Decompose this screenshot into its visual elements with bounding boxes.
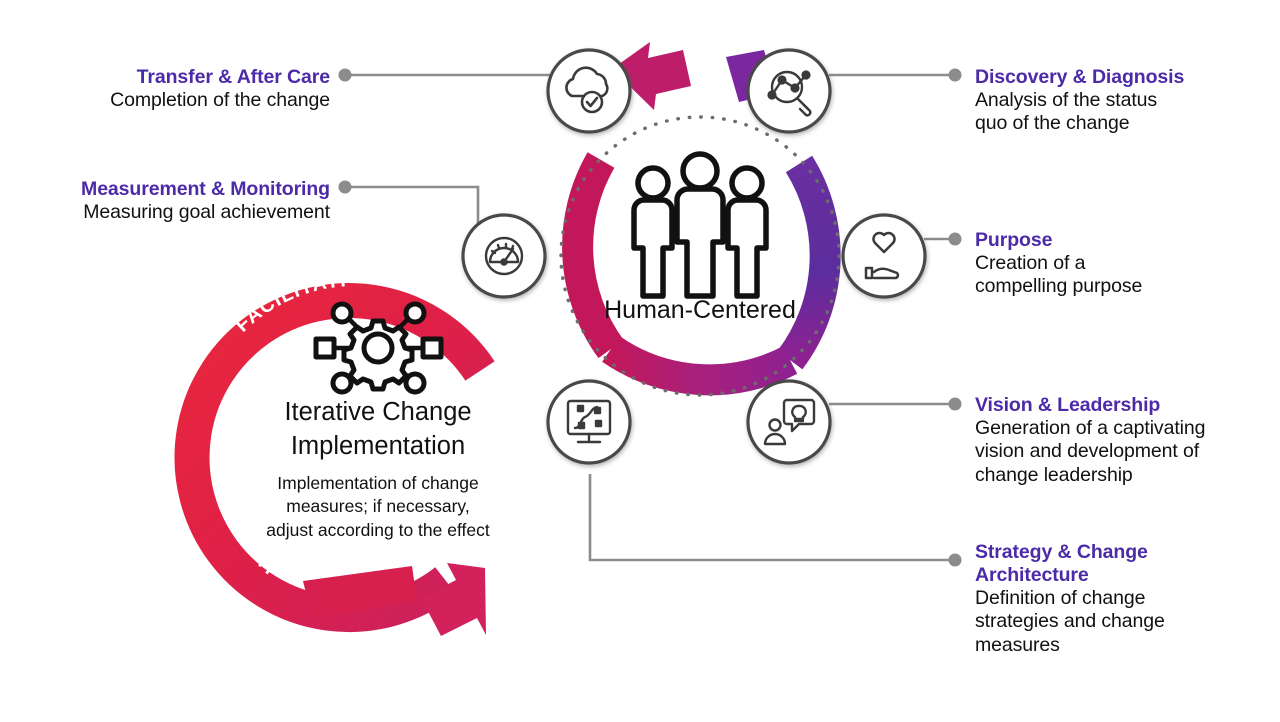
stage-desc-strategy-line3: measures	[975, 634, 1275, 657]
stage-desc-purpose-line1: Creation of a	[975, 252, 1275, 275]
stage-label-strategy-change-architecture[interactable]: Strategy & Change Architecture Definitio…	[975, 541, 1275, 657]
stage-desc-vision-leadership-line3: change leadership	[975, 464, 1275, 487]
iterative-desc-line1: Implementation of change	[228, 472, 528, 495]
stage-icon-transfer-after-care[interactable]	[548, 50, 630, 132]
stage-desc-measurement-monitoring-line1: Measuring goal achievement	[0, 201, 330, 224]
iterative-desc-line3: adjust according to the effect	[228, 519, 528, 542]
stage-title-vision-leadership: Vision & Leadership	[975, 394, 1275, 417]
connector-dot-transfer	[339, 69, 352, 82]
stage-desc-strategy-line1: Definition of change	[975, 587, 1275, 610]
connector-dot-vision	[949, 398, 962, 411]
stage-title-transfer-after-care: Transfer & After Care	[0, 66, 330, 89]
connector-dot-discovery	[949, 69, 962, 82]
ring-word-facilitation: FACILITATION	[0, 0, 348, 337]
stage-desc-discovery-diagnosis-line2: quo of the change	[975, 112, 1275, 135]
stage-icon-vision-leadership[interactable]	[748, 381, 830, 463]
stage-desc-vision-leadership-line1: Generation of a captivating	[975, 417, 1275, 440]
iterative-title-line1: Iterative Change	[213, 396, 543, 430]
connector-dot-measurement	[339, 181, 352, 194]
stage-label-transfer-after-care[interactable]: Transfer & After Care Completion of the …	[0, 66, 330, 112]
stage-desc-strategy-line2: strategies and change	[975, 610, 1275, 633]
stage-title-strategy-change-architecture-line2: Architecture	[975, 564, 1275, 587]
iterative-desc-line2: measures; if necessary,	[228, 495, 528, 518]
stage-desc-purpose-line2: compelling purpose	[975, 275, 1275, 298]
stage-icon-purpose[interactable]	[843, 215, 925, 297]
stage-desc-transfer-after-care-line1: Completion of the change	[0, 89, 330, 112]
stage-icon-strategy-change-architecture[interactable]	[548, 381, 630, 463]
stage-label-discovery-diagnosis[interactable]: Discovery & Diagnosis Analysis of the st…	[975, 66, 1275, 136]
ring-segment-magenta	[611, 349, 790, 380]
diagram-canvas: FACILITATION EXECUTION ADOPTION	[0, 0, 1280, 722]
stage-icon-measurement-monitoring[interactable]	[463, 215, 545, 297]
stage-title-discovery-diagnosis: Discovery & Diagnosis	[975, 66, 1275, 89]
connector-dot-purpose	[949, 233, 962, 246]
stage-desc-vision-leadership-line2: vision and development of	[975, 440, 1275, 463]
iterative-title-line2: Implementation	[213, 430, 543, 464]
stage-label-purpose[interactable]: Purpose Creation of a compelling purpose	[975, 229, 1275, 299]
stage-label-vision-leadership[interactable]: Vision & Leadership Generation of a capt…	[975, 394, 1275, 487]
stage-desc-discovery-diagnosis-line1: Analysis of the status	[975, 89, 1275, 112]
three-people-icon	[634, 154, 766, 296]
ring-segment-purple	[790, 164, 825, 360]
iterative-desc: Implementation of change measures; if ne…	[228, 472, 528, 542]
connector-dot-strategy	[949, 554, 962, 567]
stage-icon-discovery-diagnosis[interactable]	[748, 50, 830, 132]
connector-strategy	[590, 474, 955, 560]
stage-title-strategy-change-architecture-line1: Strategy & Change	[975, 541, 1275, 564]
stage-label-measurement-monitoring[interactable]: Measurement & Monitoring Measuring goal …	[0, 178, 330, 224]
connector-measurement	[345, 187, 478, 228]
stage-title-purpose: Purpose	[975, 229, 1275, 252]
center-label: Human-Centered	[555, 296, 845, 325]
iterative-title: Iterative Change Implementation	[213, 396, 543, 463]
stage-title-measurement-monitoring: Measurement & Monitoring	[0, 178, 330, 201]
